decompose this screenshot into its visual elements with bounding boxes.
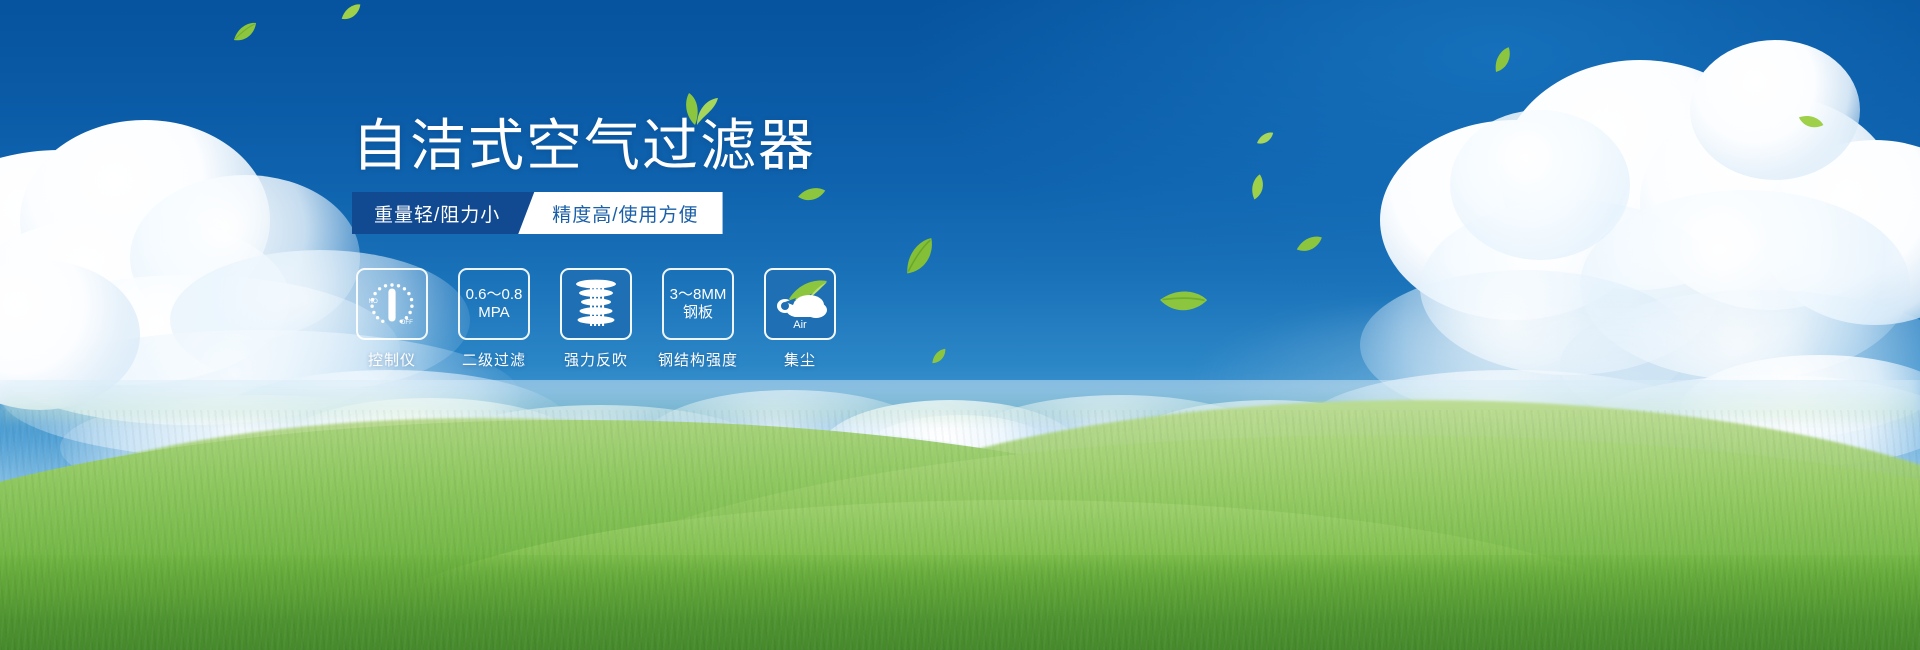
feature-label: 二级过滤 xyxy=(462,349,526,370)
feature-label: 强力反吹 xyxy=(564,349,628,370)
tagline-group: 重量轻/阻力小 精度高/使用方便 xyxy=(352,192,723,234)
hero-banner: 自洁式空气过滤器 重量轻/阻力小 精度高/使用方便 xyxy=(0,0,1920,650)
pressure-text-icon: 0.6～0.8 MPA xyxy=(466,286,523,321)
feature-icon-box xyxy=(560,268,632,340)
feature-label: 集尘 xyxy=(784,349,816,370)
feature-icon-box: Air xyxy=(764,268,836,340)
feature-item: Air 集尘 xyxy=(764,268,836,370)
coil-spring-icon xyxy=(570,277,622,331)
steel-plate-text-icon: 3～8MM 钢板 xyxy=(670,286,727,321)
feature-label: 控制仪 xyxy=(368,349,416,370)
feature-icon-box: 0.6～0.8 MPA xyxy=(458,268,530,340)
feature-label: 钢结构强度 xyxy=(658,349,738,370)
feature-item: NO OFF 控制仪 xyxy=(356,268,428,370)
banner-content: 自洁式空气过滤器 重量轻/阻力小 精度高/使用方便 xyxy=(0,0,1920,650)
feature-icon-box: NO OFF xyxy=(356,268,428,340)
feature-item: 强力反吹 xyxy=(560,268,632,370)
feature-list: NO OFF 控制仪 0.6～0.8 MPA 二级过滤 xyxy=(356,268,836,370)
svg-text:OFF: OFF xyxy=(401,319,414,326)
feature-item: 3～8MM 钢板 钢结构强度 xyxy=(662,268,734,370)
page-title: 自洁式空气过滤器 xyxy=(352,118,816,174)
svg-text:NO: NO xyxy=(369,298,378,305)
air-label: Air xyxy=(793,319,807,331)
gauge-dial-icon: NO OFF xyxy=(360,272,424,336)
feature-item: 0.6～0.8 MPA 二级过滤 xyxy=(458,268,530,370)
feature-icon-box: 3～8MM 钢板 xyxy=(662,268,734,340)
air-cloud-icon: Air xyxy=(769,275,831,333)
tagline-pill-secondary: 精度高/使用方便 xyxy=(518,192,722,234)
tagline-pill-primary: 重量轻/阻力小 xyxy=(352,192,534,234)
